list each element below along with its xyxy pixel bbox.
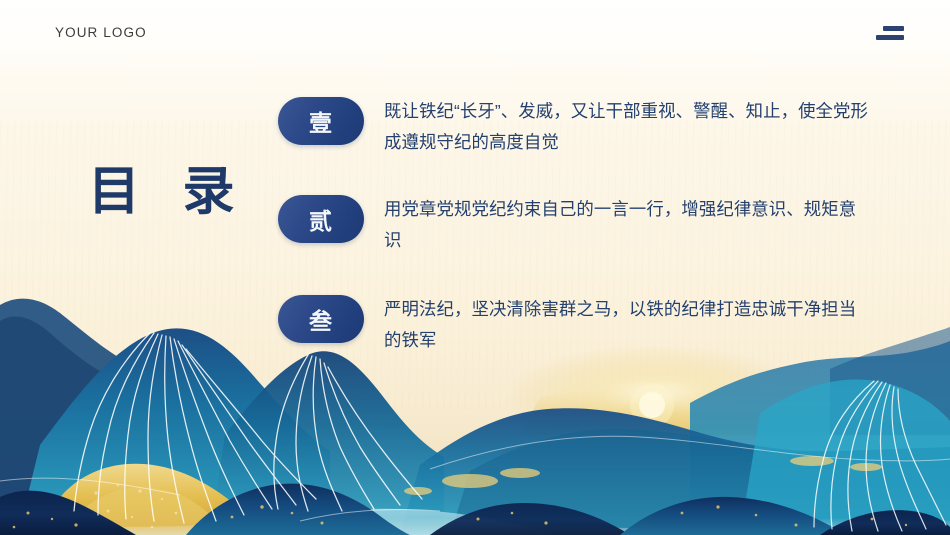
number-badge-two: 贰 — [278, 195, 364, 243]
number-badge-three: 叁 — [278, 295, 364, 343]
menu-bar-bottom — [876, 35, 904, 40]
toc-item-text: 用党章党规党纪约束自己的一言一行，增强纪律意识、规矩意识 — [384, 194, 871, 256]
toc-item-text: 既让铁纪“长牙”、发威，又让干部重视、警醒、知止，使全党形成遵规守纪的高度自觉 — [384, 96, 871, 158]
hamburger-menu-icon[interactable] — [876, 24, 904, 42]
toc-item[interactable]: 叁 严明法纪，坚决清除害群之马，以铁的纪律打造忠诚干净担当的铁军 — [278, 294, 878, 356]
logo-text: YOUR LOGO — [55, 25, 147, 40]
number-badge-one: 壹 — [278, 97, 364, 145]
page-title: 目 录 — [88, 166, 248, 218]
menu-bar-top — [883, 26, 904, 31]
toc-item-text: 严明法纪，坚决清除害群之马，以铁的纪律打造忠诚干净担当的铁军 — [384, 294, 871, 356]
toc-item[interactable]: 壹 既让铁纪“长牙”、发威，又让干部重视、警醒、知止，使全党形成遵规守纪的高度自… — [278, 96, 878, 158]
slide-canvas: YOUR LOGO 目 录 壹 既让铁纪“长牙”、发威，又让干部重视、警醒、知止… — [0, 0, 950, 535]
toc-item[interactable]: 贰 用党章党规党纪约束自己的一言一行，增强纪律意识、规矩意识 — [278, 194, 878, 256]
